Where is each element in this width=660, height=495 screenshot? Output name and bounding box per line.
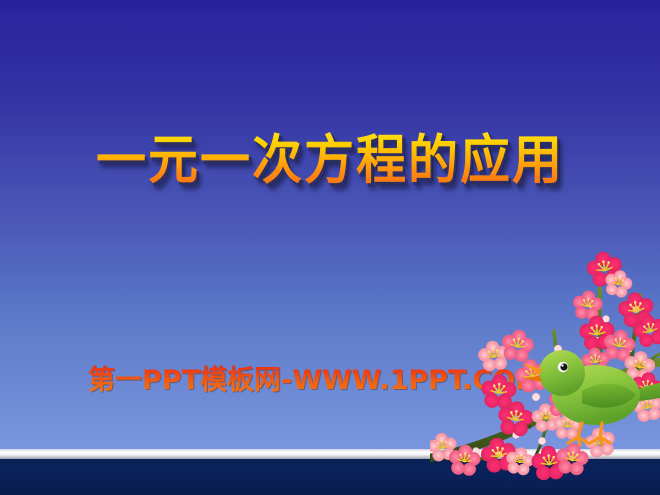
- slide-title: 一元一次方程的应用: [0, 132, 660, 188]
- presentation-slide: 一元一次方程的应用 一元一次方程的应用 第一PPT模板网-WWW.1PPT.CO…: [0, 0, 660, 495]
- divider-bar: [0, 449, 660, 459]
- footer-band: [0, 459, 660, 495]
- slide-subtitle: 第一PPT模板网-WWW.1PPT.COM: [88, 358, 542, 397]
- slide-subtitle-text: 第一PPT模板网-WWW.1PPT.COM: [88, 358, 542, 397]
- slide-title-text: 一元一次方程的应用: [96, 130, 564, 189]
